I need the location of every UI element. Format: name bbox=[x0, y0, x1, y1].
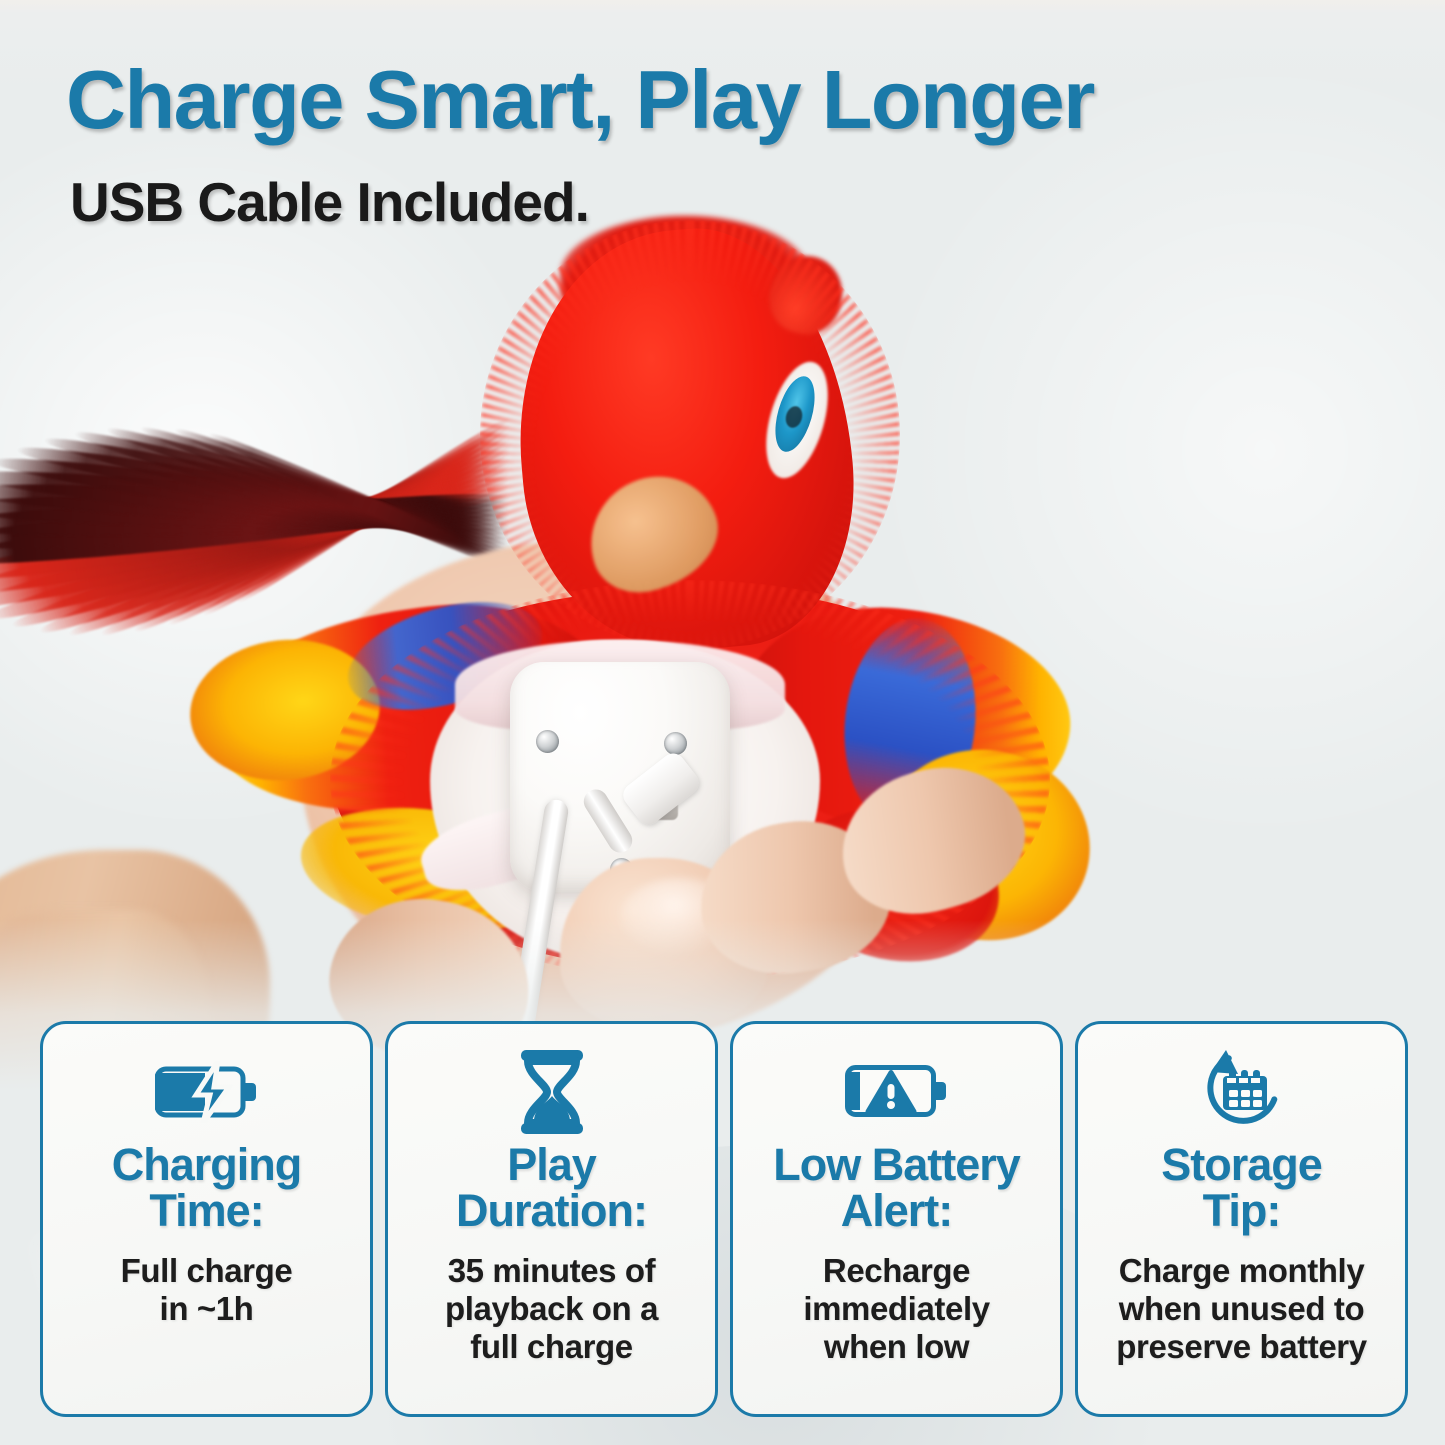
card-title-line: Charging bbox=[112, 1142, 302, 1188]
feature-card-storage-tip[interactable]: Storage Tip: Charge monthly when unused … bbox=[1075, 1021, 1408, 1417]
battery-low-alert-icon bbox=[845, 1050, 949, 1134]
card-title: Low Battery Alert: bbox=[773, 1142, 1020, 1234]
card-body-line: 35 minutes of bbox=[445, 1252, 658, 1290]
card-body-line: Full charge bbox=[121, 1252, 293, 1290]
card-title-line: Play bbox=[456, 1142, 647, 1188]
page-title: Charge Smart, Play Longer bbox=[66, 58, 1366, 141]
card-body-line: when unused to bbox=[1116, 1290, 1366, 1328]
card-body-line: playback on a bbox=[445, 1290, 658, 1328]
card-body-line: preserve battery bbox=[1116, 1328, 1366, 1366]
card-title-line: Alert: bbox=[773, 1188, 1020, 1234]
feature-card-charging-time[interactable]: Charging Time: Full charge in ~1h bbox=[40, 1021, 373, 1417]
card-body-line: in ~1h bbox=[121, 1290, 293, 1328]
infographic-canvas: Charge Smart, Play Longer USB Cable Incl… bbox=[0, 0, 1445, 1445]
card-body-line: immediately bbox=[803, 1290, 989, 1328]
card-body: Full charge in ~1h bbox=[121, 1252, 293, 1329]
card-body: 35 minutes of playback on a full charge bbox=[445, 1252, 658, 1367]
feature-card-row: Charging Time: Full charge in ~1h Play D bbox=[40, 1021, 1408, 1417]
card-body-line: Recharge bbox=[803, 1252, 989, 1290]
card-title-line: Low Battery bbox=[773, 1142, 1020, 1188]
card-body: Recharge immediately when low bbox=[803, 1252, 989, 1367]
card-body-line: full charge bbox=[445, 1328, 658, 1366]
card-body-line: Charge monthly bbox=[1116, 1252, 1366, 1290]
card-body-line: when low bbox=[803, 1328, 989, 1366]
card-title-line: Tip: bbox=[1161, 1188, 1322, 1234]
module-screw bbox=[664, 732, 687, 755]
feature-card-low-battery-alert[interactable]: Low Battery Alert: Recharge immediately … bbox=[730, 1021, 1063, 1417]
calendar-refresh-icon bbox=[1196, 1050, 1288, 1134]
card-title: Storage Tip: bbox=[1161, 1142, 1322, 1234]
card-title-line: Storage bbox=[1161, 1142, 1322, 1188]
battery-charging-icon bbox=[155, 1050, 259, 1134]
product-photo bbox=[0, 210, 1445, 1090]
module-screw bbox=[536, 730, 559, 753]
card-body: Charge monthly when unused to preserve b… bbox=[1116, 1252, 1366, 1367]
card-title-line: Time: bbox=[112, 1188, 302, 1234]
hourglass-icon bbox=[515, 1050, 589, 1134]
card-title: Charging Time: bbox=[112, 1142, 302, 1234]
card-title-line: Duration: bbox=[456, 1188, 647, 1234]
feature-card-play-duration[interactable]: Play Duration: 35 minutes of playback on… bbox=[385, 1021, 718, 1417]
card-title: Play Duration: bbox=[456, 1142, 647, 1234]
